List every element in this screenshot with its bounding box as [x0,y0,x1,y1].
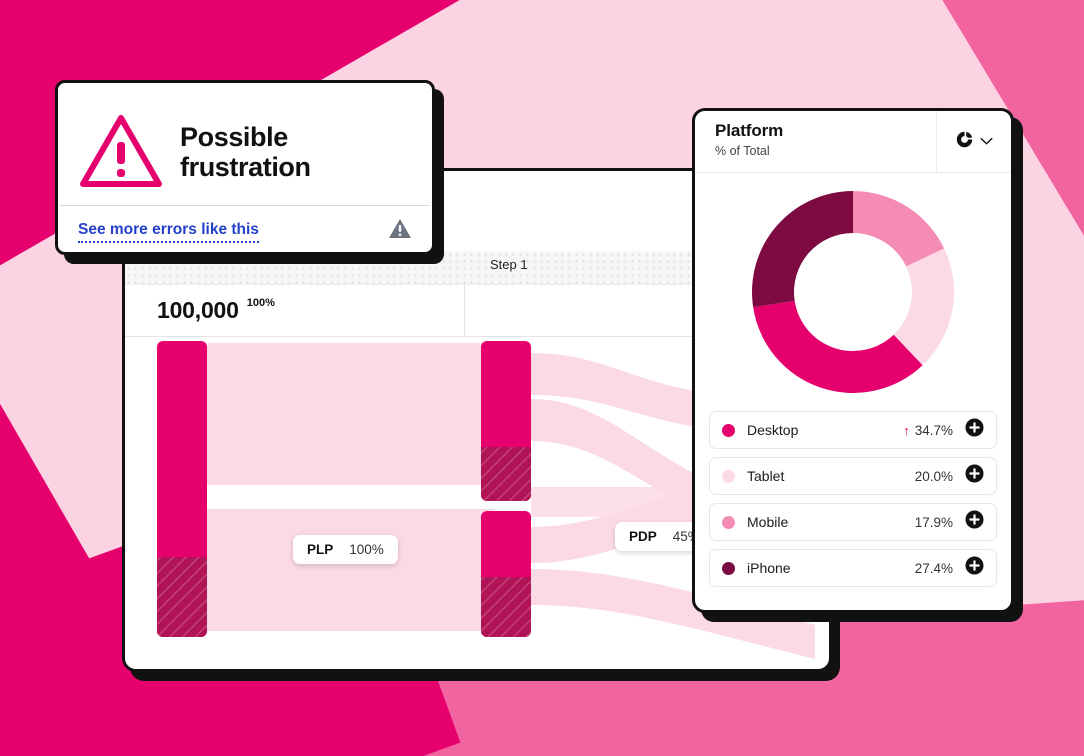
platform-panel-header-titles: Platform % of Total [695,111,937,172]
arrow-up-icon: ↑ [903,423,910,438]
legend-label-mobile: Mobile [747,514,915,530]
warning-triangle-icon [78,112,164,195]
warning-triangle-filled-icon[interactable] [388,218,412,245]
platform-panel-header: Platform % of Total [695,111,1011,173]
legend-label-iphone: iPhone [747,560,915,576]
legend-dot-iphone [722,562,735,575]
platform-panel-title: Platform [715,121,936,141]
legend-dot-desktop [722,424,735,437]
plus-circle-icon-iphone[interactable] [965,556,984,580]
platform-legend: Desktop ↑ 34.7% Tablet 20.0% [695,411,1011,587]
funnel-bar-pdp [481,341,531,501]
possible-frustration-card: Possible frustration See more errors lik… [55,80,435,255]
donut-chart-svg [749,188,957,396]
donut-slice-iphone[interactable] [752,191,853,307]
legend-row-mobile[interactable]: Mobile 17.9% [709,503,997,541]
platform-donut-chart [695,173,1011,411]
chart-type-dropdown[interactable] [937,111,1011,172]
donut-chart-icon [956,131,973,153]
funnel-metric-percent-0: 100% [247,297,275,309]
frustration-card-title: Possible frustration [180,123,311,182]
legend-value-desktop: 34.7% [915,423,953,438]
legend-row-desktop[interactable]: Desktop ↑ 34.7% [709,411,997,449]
plus-circle-icon-mobile[interactable] [965,510,984,534]
legend-dot-mobile [722,516,735,529]
funnel-node-plp-name: PLP [307,542,333,557]
funnel-step-label-1: Step 1 [490,257,528,272]
funnel-node-pdp-name: PDP [629,529,657,544]
funnel-bar-search [481,511,531,637]
funnel-metric-value-0: 100,000 [157,297,239,324]
funnel-bar-plp [157,341,207,637]
legend-row-tablet[interactable]: Tablet 20.0% [709,457,997,495]
donut-slice-desktop[interactable] [753,301,922,393]
frustration-title-line-1: Possible [180,123,311,153]
plus-circle-icon-desktop[interactable] [965,418,984,442]
screenshot-stage: Step 1 100,000 100% [0,0,1084,756]
frustration-card-body: Possible frustration [58,83,432,205]
plus-circle-icon-tablet[interactable] [965,464,984,488]
legend-row-iphone[interactable]: iPhone 27.4% [709,549,997,587]
frustration-card-footer: See more errors like this [58,206,432,245]
chevron-down-icon [980,133,993,151]
legend-value-mobile: 17.9% [915,515,953,530]
legend-label-tablet: Tablet [747,468,915,484]
see-more-errors-link[interactable]: See more errors like this [78,221,259,243]
funnel-metric-cell-0: 100,000 100% [125,285,465,336]
legend-value-tablet: 20.0% [915,469,953,484]
frustration-title-line-2: frustration [180,153,311,183]
platform-panel: Platform % of Total [692,108,1014,613]
platform-panel-subtitle: % of Total [715,144,936,158]
legend-label-desktop: Desktop [747,422,903,438]
funnel-node-plp[interactable]: PLP 100% [293,535,398,564]
funnel-node-plp-percent: 100% [349,542,384,557]
legend-value-iphone: 27.4% [915,561,953,576]
legend-dot-tablet [722,470,735,483]
